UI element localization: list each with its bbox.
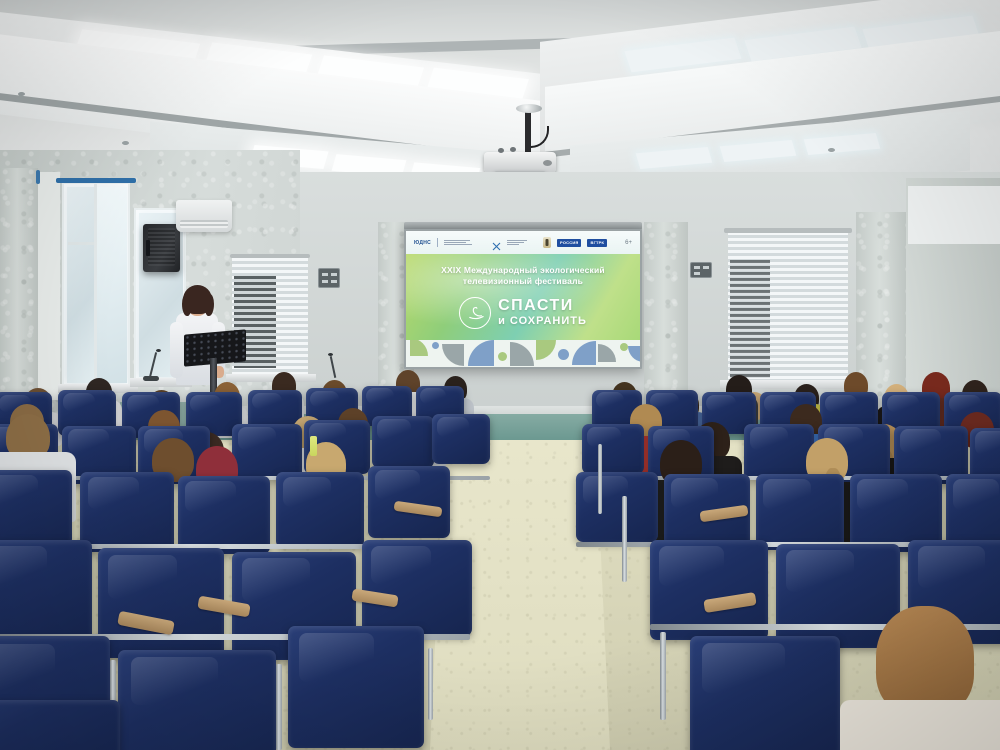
- chair-leg: [622, 496, 627, 582]
- presenter-hair-side: [182, 294, 191, 316]
- window-sill: [226, 374, 316, 382]
- chair[interactable]: [576, 472, 658, 542]
- festival-brand-text: СПАСТИ и СОХРАНИТЬ: [498, 298, 587, 328]
- chair-leg: [428, 648, 433, 720]
- chair[interactable]: [690, 636, 840, 750]
- conference-hall-photo: ЮДНС РОССИЯ ВГТРК 6+: [0, 0, 1000, 750]
- slide-decorative-band: [406, 340, 640, 367]
- window-blinds-right-slats: [730, 260, 770, 378]
- partner-logo: [444, 240, 472, 245]
- wall-speaker: [143, 224, 180, 272]
- chair[interactable]: [582, 424, 644, 474]
- chair-leg: [598, 444, 602, 514]
- brand-line-2: и СОХРАНИТЬ: [498, 314, 587, 328]
- chair[interactable]: [744, 424, 814, 480]
- logo-divider: [437, 238, 438, 247]
- chair[interactable]: [0, 700, 120, 750]
- chair[interactable]: [80, 472, 174, 552]
- projection-screen: ЮДНС РОССИЯ ВГТРК 6+: [406, 231, 640, 367]
- chair[interactable]: [362, 540, 472, 636]
- brand-line-1: СПАСТИ: [498, 298, 574, 314]
- wall-pillar: [38, 172, 60, 400]
- air-conditioner: [176, 200, 232, 232]
- kdc-logo: ЮДНС: [414, 240, 431, 246]
- age-rating-label: 6+: [625, 240, 632, 246]
- projector-mount-plate: [516, 104, 542, 113]
- rossiya-logo: РОССИЯ: [557, 239, 581, 247]
- curtain-rail: [56, 178, 136, 183]
- soffit-panel: [908, 186, 1000, 244]
- blind-headrail: [724, 228, 852, 233]
- chair[interactable]: [432, 414, 490, 464]
- chair-leg: [276, 664, 282, 750]
- chair[interactable]: [0, 540, 92, 644]
- slide-body: XXIX Международный экологический телевиз…: [406, 254, 640, 340]
- slide-logo-bar: ЮДНС РОССИЯ ВГТРК 6+: [406, 231, 640, 254]
- wall-control-panel[interactable]: [690, 262, 712, 278]
- blind-headrail: [230, 254, 310, 258]
- presenter-arm-left: [170, 322, 183, 378]
- swan-in-hand-emblem: [459, 297, 491, 329]
- chair[interactable]: [276, 472, 364, 548]
- water-bottle: [310, 436, 317, 456]
- audience-torso: [840, 700, 1000, 750]
- slide-title-line1: XXIX Международный экологический: [441, 265, 605, 276]
- festival-brand-lockup: СПАСТИ и СОХРАНИТЬ: [459, 297, 587, 329]
- wall-pillar: [0, 168, 38, 400]
- slide-title-line2: телевизионный фестиваль: [441, 276, 605, 287]
- chair[interactable]: [756, 474, 844, 550]
- curtain-rail-bracket: [36, 170, 40, 184]
- chair[interactable]: [288, 626, 424, 748]
- presentation-slide: ЮДНС РОССИЯ ВГТРК 6+: [406, 231, 640, 367]
- coat-of-arms-logo: [543, 237, 551, 248]
- chair-leg: [660, 632, 666, 720]
- org-logo-text: [507, 240, 527, 245]
- chair[interactable]: [118, 650, 276, 750]
- slide-title: XXIX Международный экологический телевиз…: [441, 265, 605, 288]
- wall-control-panel[interactable]: [318, 268, 340, 288]
- wall-pillar: [644, 222, 688, 412]
- chair[interactable]: [0, 470, 72, 546]
- vgtrk-logo: ВГТРК: [587, 239, 607, 247]
- left-window: [62, 182, 130, 386]
- chair[interactable]: [178, 476, 270, 554]
- org-logo: [492, 238, 501, 247]
- chair[interactable]: [372, 416, 434, 468]
